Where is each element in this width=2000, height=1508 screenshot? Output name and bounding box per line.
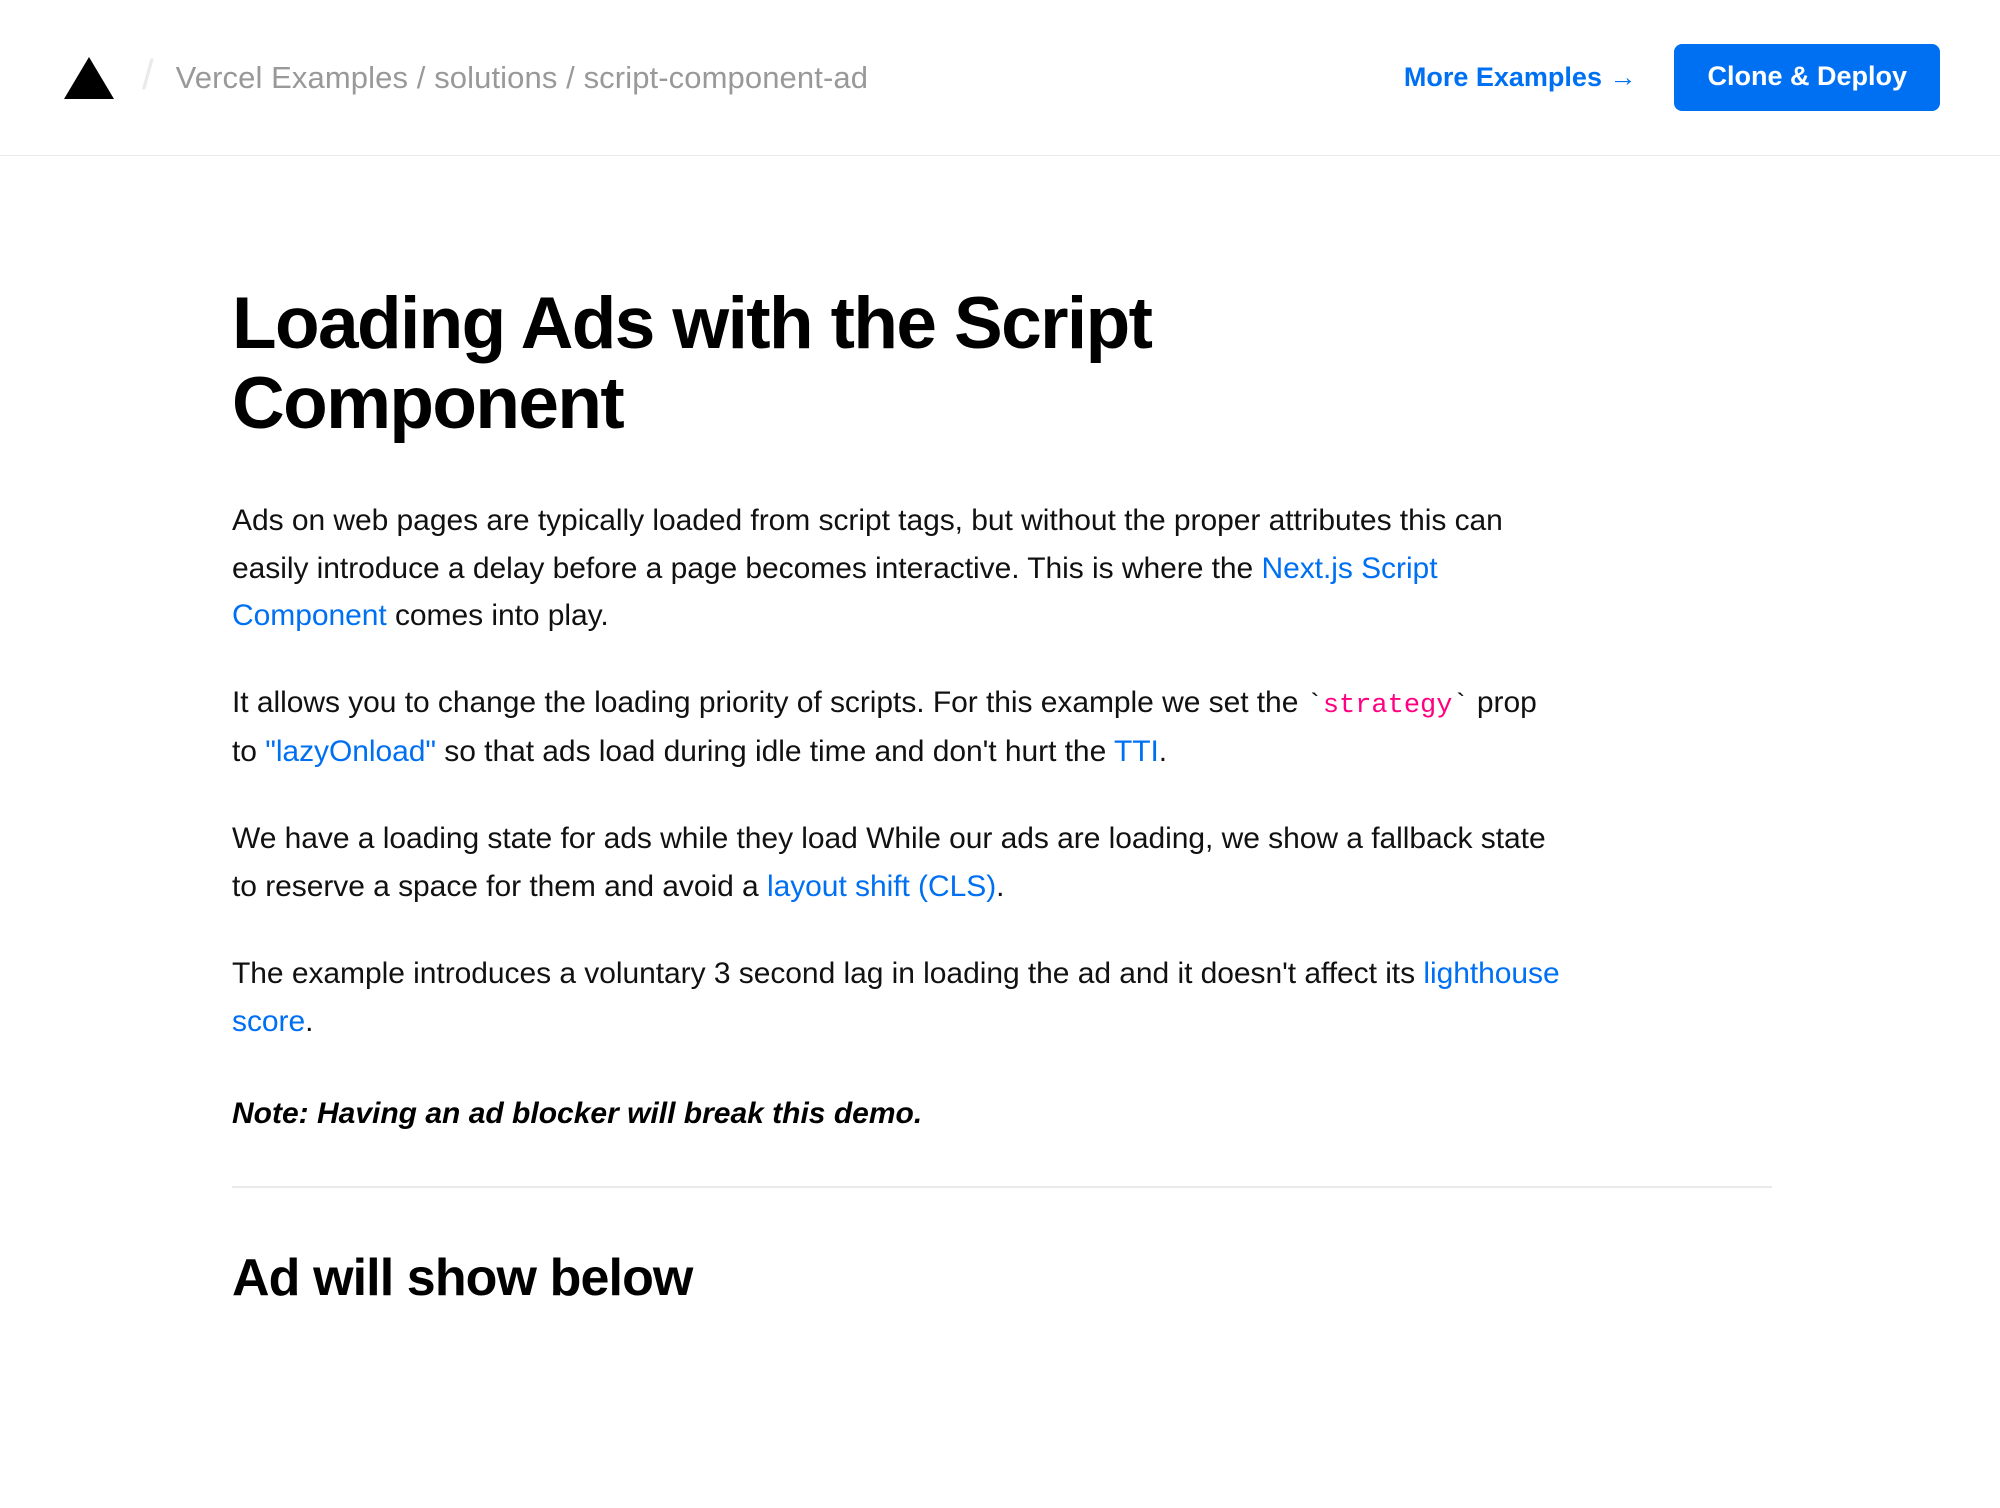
- backtick-close-icon: `: [1452, 691, 1468, 721]
- layout-shift-cls-link[interactable]: layout shift (CLS): [767, 870, 996, 903]
- ad-placeholder-slot: [232, 1348, 1560, 1508]
- paragraph-4-text-part-1: The example introduces a voluntary 3 sec…: [232, 957, 1423, 990]
- more-examples-link[interactable]: More Examples →: [1404, 62, 1637, 93]
- tti-link[interactable]: TTI: [1114, 735, 1159, 768]
- ad-section-heading: Ad will show below: [232, 1248, 1560, 1308]
- site-header: / Vercel Examples / solutions / script-c…: [0, 0, 2000, 156]
- header-actions: More Examples → Clone & Deploy: [1404, 44, 1940, 111]
- backtick-open-icon: `: [1307, 691, 1323, 721]
- content-container: Loading Ads with the Script Component Ad…: [0, 156, 1560, 1508]
- vercel-triangle-logo[interactable]: [62, 54, 116, 102]
- content-inner: Loading Ads with the Script Component Ad…: [232, 284, 1560, 1508]
- paragraph-intro: Ads on web pages are typically loaded fr…: [232, 497, 1560, 639]
- strategy-code-span: `strategy`: [1307, 691, 1469, 721]
- paragraph-strategy: It allows you to change the loading prio…: [232, 679, 1560, 775]
- breadcrumb-separator-slash: /: [142, 54, 154, 96]
- ad-blocker-note: Note: Having an ad blocker will break th…: [232, 1091, 1560, 1136]
- paragraph-2-text-part-4: .: [1159, 735, 1167, 768]
- breadcrumb[interactable]: Vercel Examples / solutions / script-com…: [176, 60, 868, 96]
- paragraph-1-text-part-2: comes into play.: [387, 599, 609, 632]
- lazyonload-link[interactable]: "lazyOnload": [265, 735, 436, 768]
- paragraph-3-text-part-2: .: [996, 870, 1004, 903]
- page-title: Loading Ads with the Script Component: [232, 284, 1352, 443]
- paragraph-2-text-part-1: It allows you to change the loading prio…: [232, 686, 1307, 719]
- paragraph-4-text-part-2: .: [305, 1005, 313, 1038]
- header-brand-group: / Vercel Examples / solutions / script-c…: [62, 54, 1404, 102]
- paragraph-loading-state: We have a loading state for ads while th…: [232, 815, 1560, 910]
- clone-and-deploy-button[interactable]: Clone & Deploy: [1674, 44, 1940, 111]
- paragraph-2-text-part-3: so that ads load during idle time and do…: [436, 735, 1114, 768]
- paragraph-lighthouse: The example introduces a voluntary 3 sec…: [232, 950, 1560, 1045]
- strategy-code-text: strategy: [1323, 691, 1453, 721]
- page-body: Loading Ads with the Script Component Ad…: [0, 156, 2000, 1508]
- section-divider: [232, 1186, 1772, 1188]
